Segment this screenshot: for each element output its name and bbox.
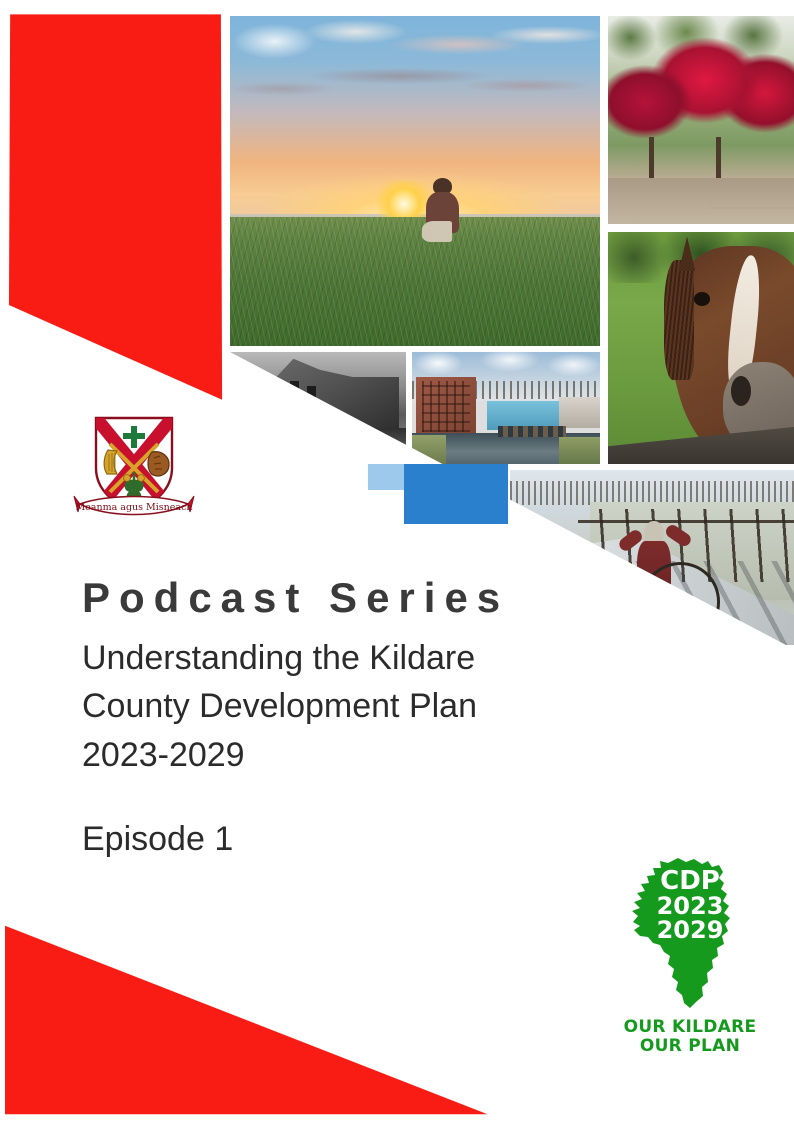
motto-ribbon: Meanma agus Misneach (74, 496, 194, 515)
motto-text: Meanma agus Misneach (75, 502, 192, 513)
cdp-tagline-line-1: OUR KILDARE (600, 1018, 780, 1037)
blue-accent-pale-shape (368, 464, 408, 490)
rope-fence (710, 207, 794, 209)
subtitle: Understanding the Kildare County Develop… (82, 634, 602, 779)
cdp-tagline-line-2: OUR PLAN (600, 1037, 780, 1056)
photo-horse (608, 232, 794, 464)
moored-barges (498, 426, 566, 437)
horse-mane (664, 260, 694, 381)
subtitle-line-2: County Development Plan (82, 682, 602, 730)
harbour-bank-right (559, 437, 600, 464)
sunset-grass-field (230, 217, 600, 346)
kildare-coat-of-arms: Meanma agus Misneach (72, 408, 196, 530)
episode-label: Episode 1 (82, 819, 622, 860)
red-brick-mill (416, 377, 476, 437)
seated-person-silhouette (422, 178, 463, 244)
leopard-head-charge (148, 452, 169, 476)
red-bottom-left-triangle (0, 905, 500, 1123)
page-title: Podcast Series (82, 576, 622, 620)
gravel-path (608, 178, 794, 224)
harbour-houses (559, 397, 600, 428)
photo-canal-harbour (412, 352, 600, 464)
cdp-tagline: OUR KILDARE OUR PLAN (600, 1018, 780, 1056)
photo-maple-trees (608, 16, 794, 224)
cover-text-block: Podcast Series Understanding the Kildare… (82, 576, 622, 860)
red-maple-canopy (608, 37, 794, 145)
podcast-cover-page: Meanma agus Misneach Podcast Series Unde… (0, 0, 794, 1123)
cdp-logo: CDP 2023 2029 OUR KILDARE OUR PLAN (600, 856, 780, 1056)
horse-nostril (731, 376, 751, 406)
sunset-clouds (230, 16, 600, 174)
photo-sunset (230, 16, 600, 346)
harp-charge (104, 450, 117, 474)
county-kildare-outline-shape (632, 858, 730, 1008)
subtitle-line-3: 2023-2029 (82, 731, 602, 779)
subtitle-line-1: Understanding the Kildare (82, 634, 602, 682)
kildare-map-icon: CDP 2023 2029 (620, 856, 760, 1014)
blue-accent-shape (404, 464, 508, 524)
